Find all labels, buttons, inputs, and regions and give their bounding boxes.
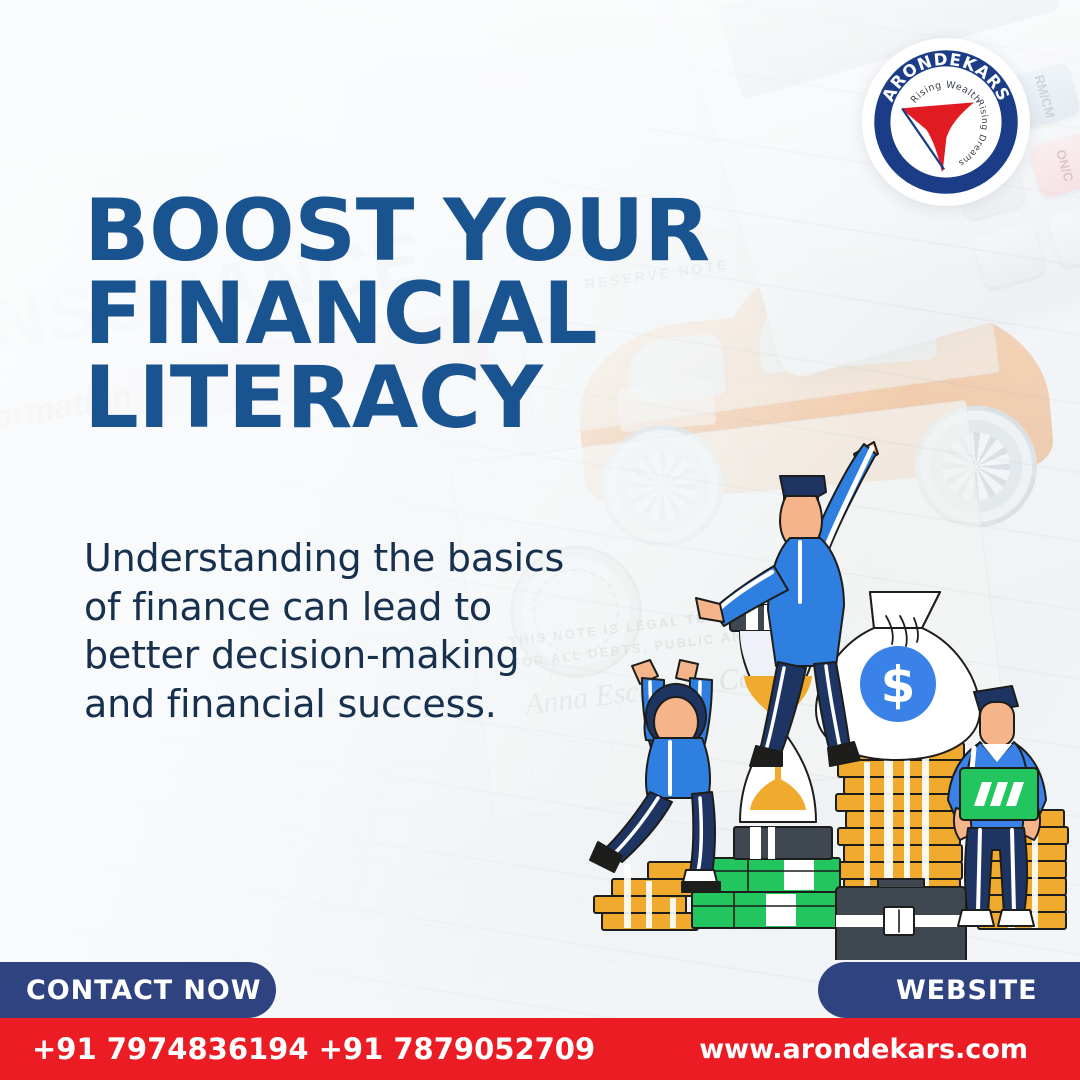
svg-text:$: $ bbox=[881, 656, 916, 714]
body-copy: Understanding the basics of finance can … bbox=[84, 534, 644, 729]
headline-line-1: BOOST YOUR bbox=[84, 190, 844, 273]
logo-mark: ARONDEKARS WEALTH MANAGEMENT Rising Weal… bbox=[870, 46, 1022, 198]
briefcase bbox=[836, 879, 966, 960]
cta-button-row: CONTACT NOW WEBSITE bbox=[0, 962, 1080, 1018]
body-line-3: better decision-making bbox=[84, 631, 644, 680]
finance-illustration: $ bbox=[588, 430, 1080, 960]
illustration-svg: $ bbox=[588, 430, 1080, 960]
figure-jumping bbox=[590, 660, 720, 892]
website-button[interactable]: WEBSITE bbox=[818, 962, 1080, 1018]
contact-now-button[interactable]: CONTACT NOW bbox=[0, 962, 276, 1018]
phone-numbers[interactable]: +91 7974836194 +91 7879052709 bbox=[32, 1032, 595, 1066]
website-label: WEBSITE bbox=[896, 975, 1037, 1006]
contact-now-label: CONTACT NOW bbox=[26, 975, 261, 1006]
footer-bar: +91 7974836194 +91 7879052709 www.aronde… bbox=[0, 1018, 1080, 1080]
body-line-1: Understanding the basics bbox=[84, 534, 644, 583]
promotional-poster: RESERVE NOTE THIS NOTE IS LEGAL TENDER F… bbox=[0, 0, 1080, 1080]
headline-line-2: FINANCIAL bbox=[84, 273, 844, 356]
website-url[interactable]: www.arondekars.com bbox=[699, 1034, 1028, 1065]
headline-line-3: LITERACY bbox=[84, 357, 844, 440]
body-line-2: of finance can lead to bbox=[84, 583, 644, 632]
headline: BOOST YOUR FINANCIAL LITERACY bbox=[84, 190, 844, 440]
body-line-4: and financial success. bbox=[84, 680, 644, 729]
company-logo[interactable]: ARONDEKARS WEALTH MANAGEMENT Rising Weal… bbox=[862, 38, 1030, 206]
hourglass-base-bar bbox=[734, 827, 832, 859]
